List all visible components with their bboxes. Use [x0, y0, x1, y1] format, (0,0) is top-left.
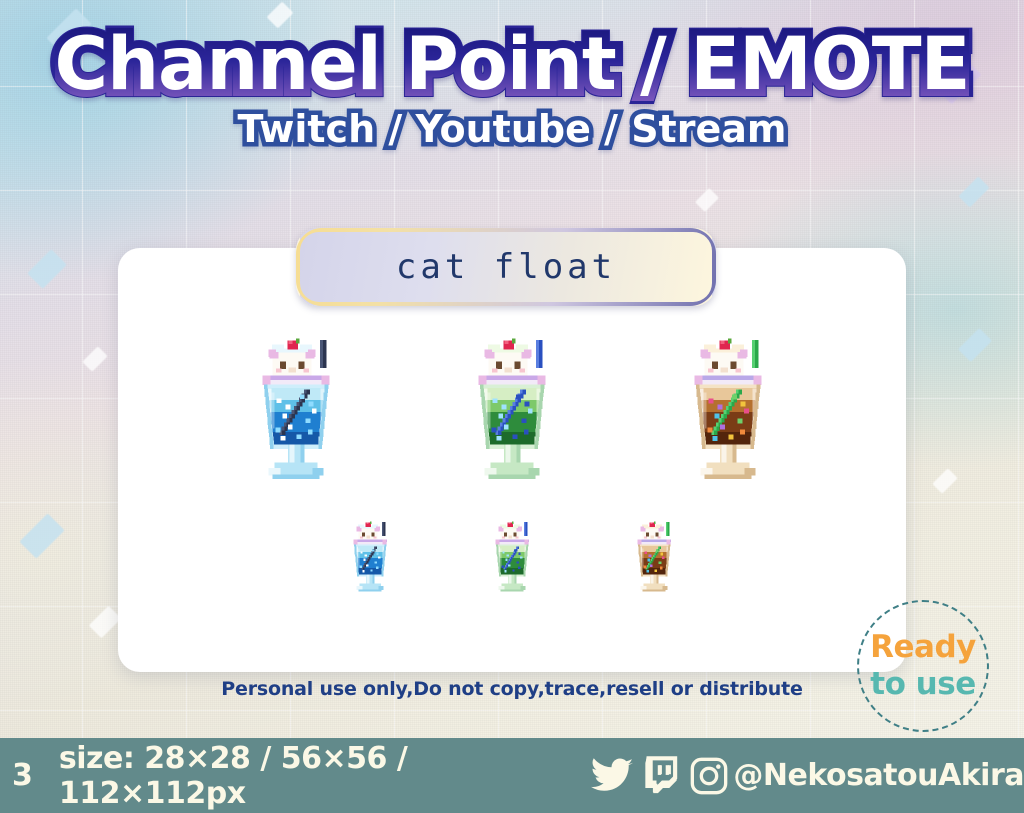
header: Channel Point / EMOTE Channel Point / EM… [0, 28, 1024, 151]
page-title: Channel Point / EMOTE Channel Point / EM… [55, 28, 970, 101]
emote-count: 3 [12, 758, 33, 793]
page-subtitle: Twitch / Youtube / Stream Twitch / Youtu… [238, 109, 787, 151]
emote-blue-soda-cat-float-large[interactable] [240, 336, 352, 504]
emote-name-banner-inner: cat float [300, 232, 712, 302]
emote-row-large [118, 336, 906, 504]
emote-melon-soda-cat-float-large[interactable] [456, 336, 568, 504]
ready-badge-line1: Ready [870, 632, 976, 663]
ready-badge-line2: to use [870, 669, 975, 700]
emote-blue-soda-cat-float-small[interactable] [342, 520, 398, 604]
footer-bar: 3 size: 28×28 / 56×56 / 112×112px @Ne [0, 738, 1024, 813]
page-title-text: Channel Point / EMOTE [55, 28, 970, 101]
page-subtitle-text: Twitch / Youtube / Stream [238, 109, 787, 151]
ready-to-use-badge: Ready to use [857, 600, 989, 732]
emote-cola-chocolate-cat-float-large[interactable] [672, 336, 784, 504]
twitch-icon[interactable] [643, 756, 679, 796]
emote-melon-soda-cat-float-small[interactable] [484, 520, 540, 604]
emote-name-banner: cat float [296, 228, 716, 306]
emote-showcase-card [118, 248, 906, 672]
social-handle: @NekosatouAkira [733, 758, 1024, 793]
emote-cola-chocolate-cat-float-small[interactable] [626, 520, 682, 604]
emote-sizes-label: size: 28×28 / 56×56 / 112×112px [59, 741, 586, 811]
emote-name-label: cat float [396, 247, 616, 287]
twitter-icon[interactable] [591, 758, 633, 794]
social-icons [591, 756, 729, 796]
instagram-icon[interactable] [689, 756, 729, 796]
emote-row-small [118, 520, 906, 604]
